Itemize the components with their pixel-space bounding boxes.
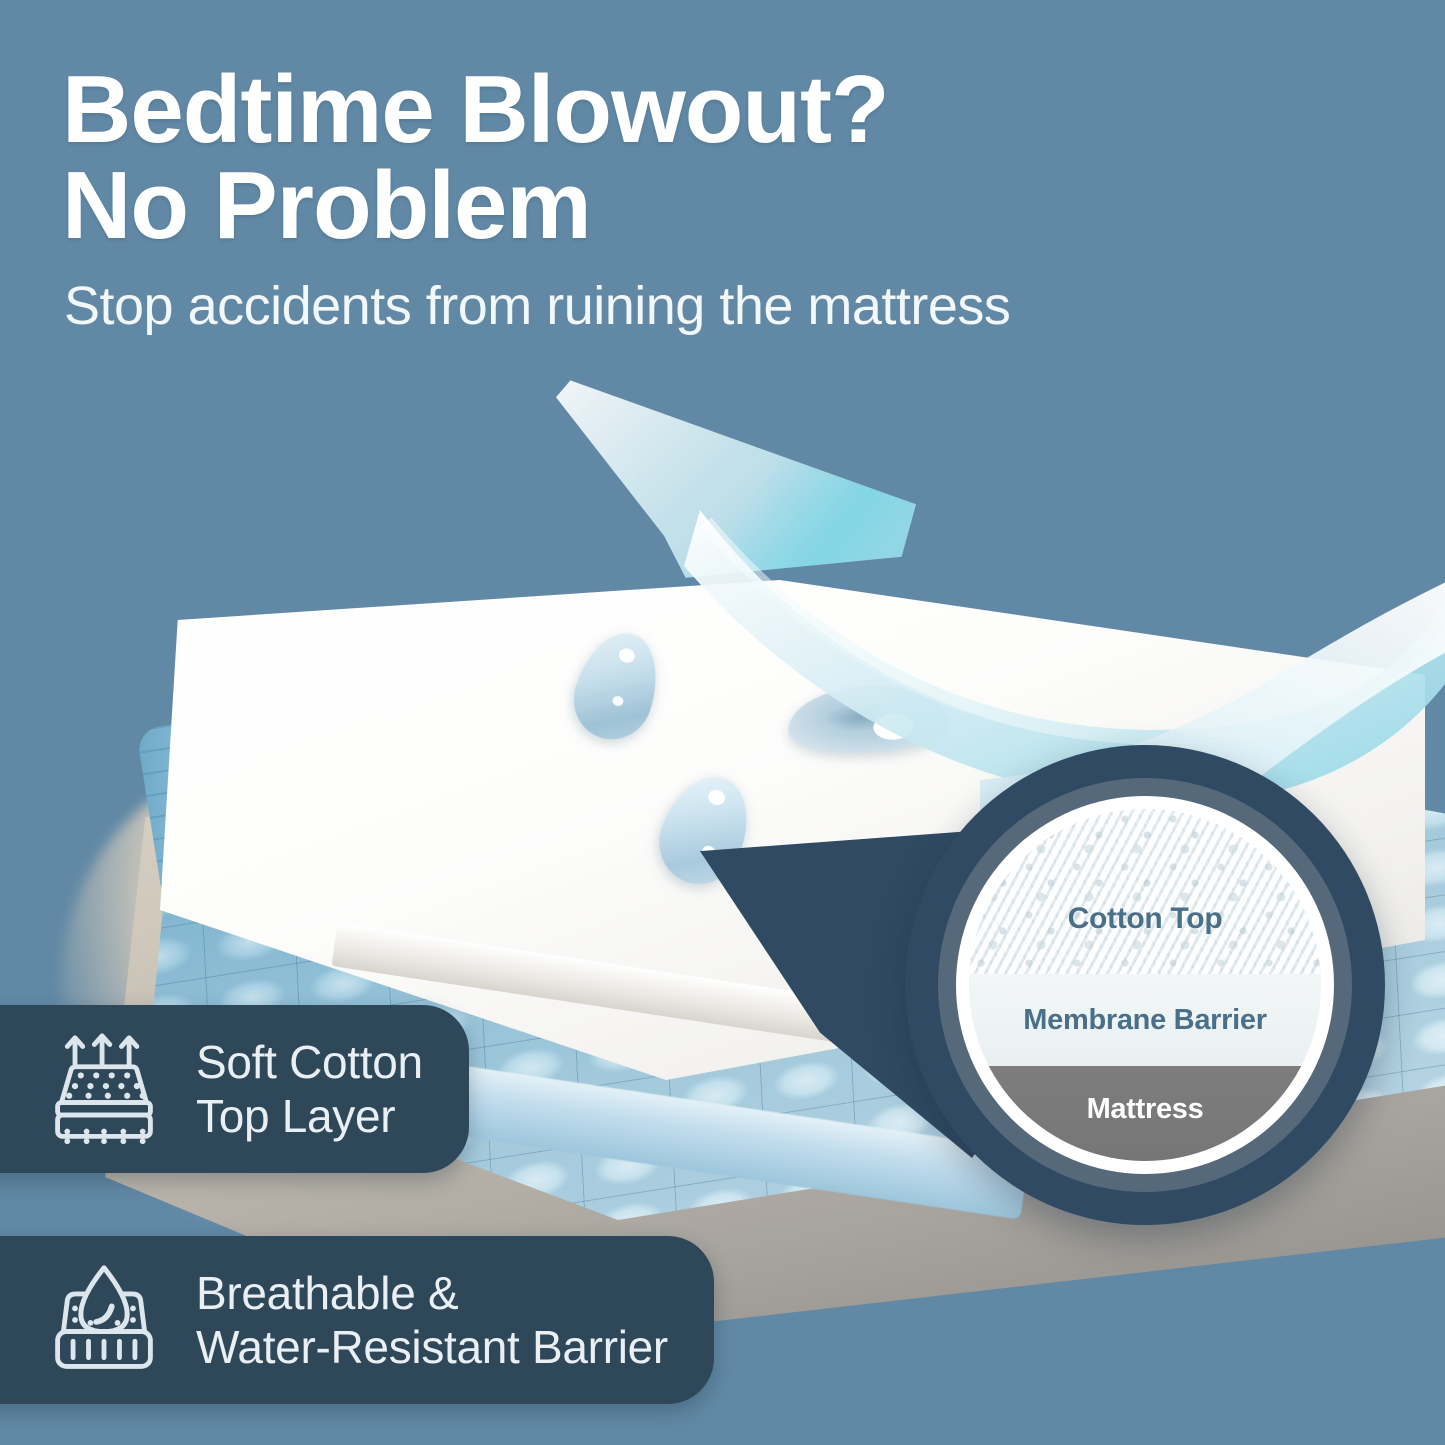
breathable-mattress-arrows-icon <box>46 1031 162 1147</box>
callout-white-ring: Cotton Top Membrane Barrier Mattress <box>956 796 1334 1174</box>
layer-label-cotton-top: Cotton Top <box>1068 902 1223 936</box>
layers-callout-circle: Cotton Top Membrane Barrier Mattress <box>905 745 1385 1225</box>
layer-label-membrane-barrier: Membrane Barrier <box>1023 1004 1266 1037</box>
layer-cross-section: Cotton Top Membrane Barrier Mattress <box>969 809 1321 1161</box>
feature-badge-label: Soft Cotton Top Layer <box>196 1035 423 1144</box>
layer-mattress: Mattress <box>969 1066 1321 1161</box>
callout-inner-ring: Cotton Top Membrane Barrier Mattress <box>938 778 1352 1192</box>
page-title: Bedtime Blowout? No Problem <box>62 62 1212 254</box>
product-feature-graphic: Bedtime Blowout? No Problem Stop acciden… <box>0 0 1445 1445</box>
water-droplet-mattress-icon <box>46 1262 162 1378</box>
page-subtitle: Stop accidents from ruining the mattress <box>64 278 1264 335</box>
layer-cotton-top: Cotton Top <box>969 809 1321 974</box>
feature-badge-label: Breathable & Water-Resistant Barrier <box>196 1266 668 1375</box>
feature-badge-soft-cotton: Soft Cotton Top Layer <box>0 1005 469 1173</box>
layer-membrane-barrier: Membrane Barrier <box>969 974 1321 1066</box>
layer-label-mattress: Mattress <box>1087 1093 1204 1126</box>
feature-badge-water-resistant: Breathable & Water-Resistant Barrier <box>0 1236 714 1404</box>
